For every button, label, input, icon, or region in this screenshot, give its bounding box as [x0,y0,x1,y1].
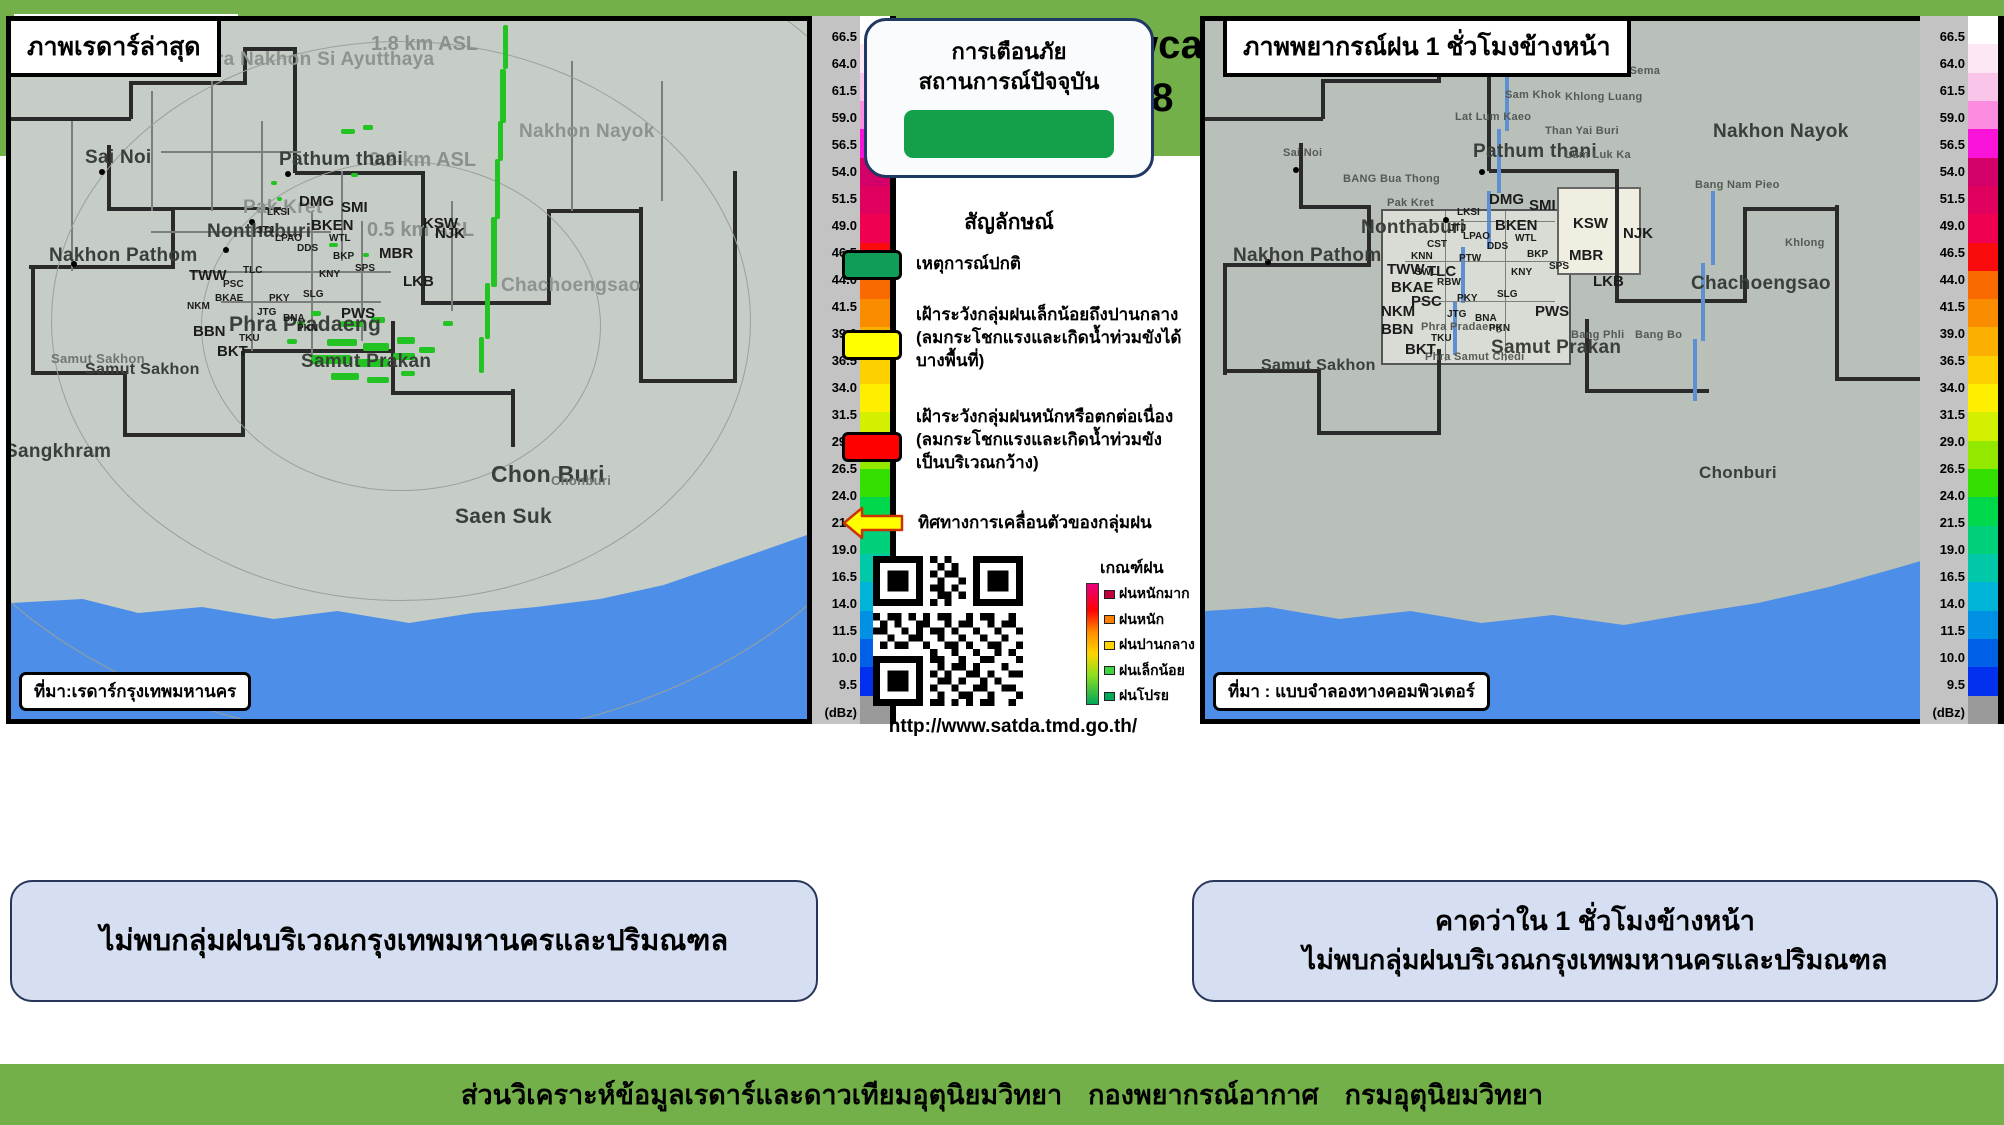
dbz-tick: 10.0 [1940,651,1965,664]
dbz-tick: 56.5 [1940,138,1965,151]
district-code: KNN [1411,251,1433,262]
dbz-tick: 9.5 [1947,678,1965,691]
district-code: TKU [239,333,260,344]
province-border [1835,205,1839,381]
forecast-map-caption: ภาพพยากรณ์ฝน 1 ชั่วโมงข้างหน้า [1223,17,1631,77]
alert-status-indicator [904,110,1114,158]
footer-part2: กองพยากรณ์อากาศ [1088,1080,1318,1110]
province-border [1367,205,1371,265]
city-dot [1265,259,1271,265]
district-code: LKB [403,273,434,290]
radar-echo [287,339,297,344]
forecast-summary-line1: คาดว่าใน 1 ชั่วโมงข้างหน้า [1435,902,1755,941]
radar-echo [355,359,389,367]
rain-scale-swatch [1104,666,1115,675]
district-code: LPAO [1463,231,1490,242]
radar-echo [277,197,282,201]
radar-range-ring [201,161,601,491]
province-border [1615,299,1747,303]
province-border [1489,169,1619,173]
dbz-tick: 16.5 [1940,570,1965,583]
dbz-tick: 26.5 [1940,462,1965,475]
district-code: PKY [269,293,290,304]
legend-label-arrow: ทิศทางการเคลื่อนตัวของกลุ่มฝน [918,512,1152,535]
legend-label-yellow: เฝ้าระวังกลุ่มฝนเล็กน้อยถึงปานกลาง (ลมกร… [916,304,1188,373]
province-border [1299,205,1369,209]
radar-echo [363,125,373,130]
district-code: NJK [1623,225,1653,242]
radar-echo [363,253,369,257]
province-border [1223,263,1371,267]
district-code: LKB [1593,273,1624,290]
radar-echo [363,343,389,351]
district-code: SPS [1549,261,1569,272]
rain-scale-item: ฝนหนักมาก [1104,583,1195,605]
province-border [1585,319,1589,393]
dbz-tick: 54.0 [1940,165,1965,178]
radar-echo [351,173,358,177]
forecast-dbz-colorbar: 66.5 64.0 61.5 59.0 56.5 54.0 51.5 49.0 … [1920,16,2004,724]
district-code: DDS [297,243,318,254]
district-code: MBR [379,245,413,262]
district-code: BKT [217,343,248,360]
river [1693,339,1697,401]
rain-intensity-scale: เกณฑ์ฝน ฝนหนักมาก ฝนหนัก ฝนปานกลาง [1086,556,1216,707]
province-border [1743,209,1747,303]
district-code: PWS [1535,303,1569,320]
legend-item-red-warning: เฝ้าระวังกลุ่มฝนหนักหรือตกต่อเนื่อง (ลมก… [842,406,1194,475]
legend-label-normal: เหตุการณ์ปกติ [916,253,1021,276]
alert-status-card: การเตือนภัย สถานการณ์ปัจจุบัน [864,18,1154,178]
rain-scale-item: ฝนโปรย [1104,685,1195,707]
district-code: TKU [1431,333,1452,344]
district-code: DMG [299,193,334,210]
dbz-tick: 14.0 [1940,597,1965,610]
radar-echo [401,371,415,376]
radar-echo [311,311,321,316]
dbz-tick: 64.0 [1940,57,1965,70]
district-code: JTJ [257,225,274,236]
qr-code-link[interactable] [834,556,1074,706]
dbz-tick: 36.5 [1940,354,1965,367]
radar-echo [495,159,500,219]
legend-item-normal: เหตุการณ์ปกติ [842,248,1194,280]
radar-echo [327,339,357,346]
district-code: JTG [257,307,276,318]
district-code: SMI [341,199,368,216]
forecast-map-source: ที่มา : แบบจำลองทางคอมพิวเตอร์ [1213,672,1490,711]
footer-part3: กรมอุตุนิยมวิทยา [1345,1080,1543,1110]
district-code: NKM [187,301,210,312]
district-code: CST [1427,239,1447,250]
district-code: NKM [1381,303,1415,320]
radar-echo [393,353,415,360]
district-code: BKAE [215,293,243,304]
radar-echo [397,337,415,344]
radar-echo [331,373,359,380]
dbz-tick-labels: 66.5 64.0 61.5 59.0 56.5 54.0 51.5 49.0 … [1920,16,1968,724]
asl-label-2: 0.9 km ASL [369,149,476,172]
district-code: KNY [1511,267,1532,278]
district-code: KNY [319,269,340,280]
current-summary-box: ไม่พบกลุ่มฝนบริเวณกรุงเทพมหานครและปริมณฑ… [10,880,818,1002]
radar-echo [311,355,351,364]
district-code: PKN [297,323,318,334]
province-border [1321,81,1325,119]
forecast-summary-line2: ไม่พบกลุ่มฝนบริเวณกรุงเทพมหานครและปริมณฑ… [1303,941,1888,980]
radar-echo [443,321,453,326]
district-code: SLG [303,289,324,300]
dbz-tick: 41.5 [1940,300,1965,313]
city-dot [285,171,291,177]
arrow-left-icon [842,506,904,540]
footer-part1: ส่วนวิเคราะห์ข้อมูลเรดาร์และดาวเทียมอุตุ… [461,1080,1062,1110]
dbz-tick: 66.5 [1940,30,1965,43]
forecast-map-canvas: Suphan Buri Phra Nakhon Si Ayutthaya Non… [1205,21,1995,719]
district-code: BKEN [311,217,354,234]
district-code: DMG [1489,191,1524,208]
district-code: BKP [1527,249,1548,260]
district-code: BBN [1381,321,1414,338]
radar-map-panel[interactable]: 1.8 km ASL 0.9 km ASL 0.5 km ASL [6,16,812,724]
dbz-tick: 21.5 [1940,516,1965,529]
footer-banner: ส่วนวิเคราะห์ข้อมูลเรดาร์และดาวเทียมอุตุ… [0,1064,2004,1125]
river [1497,129,1501,193]
rain-scale-label: ฝนหนักมาก [1119,583,1190,605]
legend-item-movement-arrow: ทิศทางการเคลื่อนตัวของกลุ่มฝน [842,506,1194,540]
district-code: PKY [1457,293,1478,304]
district-code: NJK [435,225,465,242]
district-code: JTG [1447,309,1466,320]
legend-swatch-red [842,432,902,462]
district-code: LPAO [275,233,302,244]
rain-scale-swatch [1104,641,1115,650]
province-border [1205,117,1323,121]
rain-scale-swatch [1104,615,1115,624]
city-dot [1293,167,1299,173]
district-code: PTW [1459,253,1481,264]
district-code: BBN [193,323,226,340]
province-border [1317,369,1321,435]
district-code: BKEN [1495,217,1538,234]
radar-echo [341,129,355,134]
radar-echo [500,69,506,123]
district-code: KSW [1573,215,1608,232]
legend-swatch-green [842,250,902,280]
district-code: PKN [1489,323,1510,334]
dbz-tick: 46.5 [1940,246,1965,259]
forecast-summary-box: คาดว่าใน 1 ชั่วโมงข้างหน้า ไม่พบกลุ่มฝนบ… [1192,880,1998,1002]
district-code: SPS [355,263,375,274]
district-code: TLC [243,265,262,276]
alert-title-line2: สถานการณ์ปัจจุบัน [919,67,1100,97]
rain-scale-label: ฝนเล็กน้อย [1119,660,1185,682]
dbz-tick: 19.0 [1940,543,1965,556]
radar-echo [479,337,484,373]
dbz-tick: 49.0 [1940,219,1965,232]
dbz-tick: 11.5 [1940,624,1965,637]
rain-scale-label: ฝนหนัก [1119,609,1164,631]
river [1701,263,1705,341]
dbz-color-swatches [1968,16,1998,724]
radar-echo [271,181,277,185]
radar-echo [485,283,490,339]
city-dot [99,169,105,175]
website-url[interactable]: http://www.satda.tmd.go.th/ [818,716,1208,738]
province-border [1225,369,1321,373]
district-code: BKAE [1391,279,1434,296]
province-border [1835,377,1929,381]
legend-swatch-yellow [842,330,902,360]
rain-scale-swatch [1104,590,1115,599]
alert-title-line1: การเตือนภัย [952,37,1067,67]
district-code: LKSI [267,207,290,218]
district-code: SWL [1415,267,1437,278]
city-dot [249,219,255,225]
district-code: LKSI [1457,207,1480,218]
dbz-tick: 31.5 [1940,408,1965,421]
dbz-tick: 39.0 [1940,327,1965,340]
rain-scale-label: ฝนปานกลาง [1119,634,1195,656]
district-code: JTJ [1449,223,1466,234]
dbz-unit-label: (dBz) [1933,706,1966,719]
district-code: WTL [1515,233,1537,244]
district-code: DDS [1487,241,1508,252]
radar-echo [498,121,503,161]
district-code: SMI [1529,197,1556,214]
district-code: MBR [1569,247,1603,264]
province-border [1321,79,1441,83]
province-border [1743,207,1839,211]
radar-echo [419,347,435,353]
city-dot [1479,169,1485,175]
rain-scale-gradient [1086,583,1099,705]
district-code: PWS [341,305,375,322]
river [1711,191,1715,265]
asl-label-1: 1.8 km ASL [371,33,478,56]
footer-text: ส่วนวิเคราะห์ข้อมูลเรดาร์และดาวเทียมอุตุ… [461,1073,1543,1116]
rain-scale-swatch [1104,692,1115,701]
rain-scale-item: ฝนเล็กน้อย [1104,660,1195,682]
province-border [1319,431,1441,435]
rain-scale-item: ฝนหนัก [1104,609,1195,631]
province-border [1299,143,1303,207]
province-border [1587,389,1709,393]
province-border [1437,349,1441,433]
district-code: SLG [1497,289,1518,300]
legend-label-red: เฝ้าระวังกลุ่มฝนหนักหรือตกต่อเนื่อง (ลมก… [916,406,1188,475]
dbz-tick: 61.5 [1940,84,1965,97]
dbz-tick: 44.0 [1940,273,1965,286]
radar-map-canvas: 1.8 km ASL 0.9 km ASL 0.5 km ASL [11,21,807,719]
radar-echo [367,377,389,383]
city-dot [71,261,77,267]
radar-echo [491,217,497,287]
dbz-tick: 29.0 [1940,435,1965,448]
district-code: RBW [1437,277,1461,288]
radar-map-source: ที่มา:เรดาร์กรุงเทพมหานคร [19,672,251,711]
radar-echo [503,25,508,69]
province-border [1223,263,1227,375]
legend-title: สัญลักษณ์ [824,206,1194,239]
district-code: WTL [329,233,351,244]
rain-scale-title: เกณฑ์ฝน [1086,556,1216,581]
dbz-tick: 24.0 [1940,489,1965,502]
district-code: TWW [189,267,226,284]
forecast-map-panel[interactable]: Suphan Buri Phra Nakhon Si Ayutthaya Non… [1200,16,2000,724]
district-code: BKP [333,251,354,262]
radar-map-caption: ภาพเรดาร์ล่าสุด [7,17,221,77]
center-legend-column: การเตือนภัย สถานการณ์ปัจจุบัน สัญลักษณ์ … [824,16,1194,896]
rain-scale-item: ฝนปานกลาง [1104,634,1195,656]
district-code: PSC [223,279,244,290]
rain-scale-label: ฝนโปรย [1119,685,1169,707]
current-summary-text: ไม่พบกลุ่มฝนบริเวณกรุงเทพมหานครและปริมณฑ… [100,920,728,962]
city-dot [223,247,229,253]
dbz-tick: 59.0 [1940,111,1965,124]
nowcast-dashboard: รายงานและพยากรณ์ฝนระยะปัจจุบัน(Nowcasts)… [0,0,2004,1125]
dbz-tick: 51.5 [1940,192,1965,205]
dbz-tick: 34.0 [1940,381,1965,394]
legend-item-yellow-warning: เฝ้าระวังกลุ่มฝนเล็กน้อยถึงปานกลาง (ลมกร… [842,304,1194,373]
